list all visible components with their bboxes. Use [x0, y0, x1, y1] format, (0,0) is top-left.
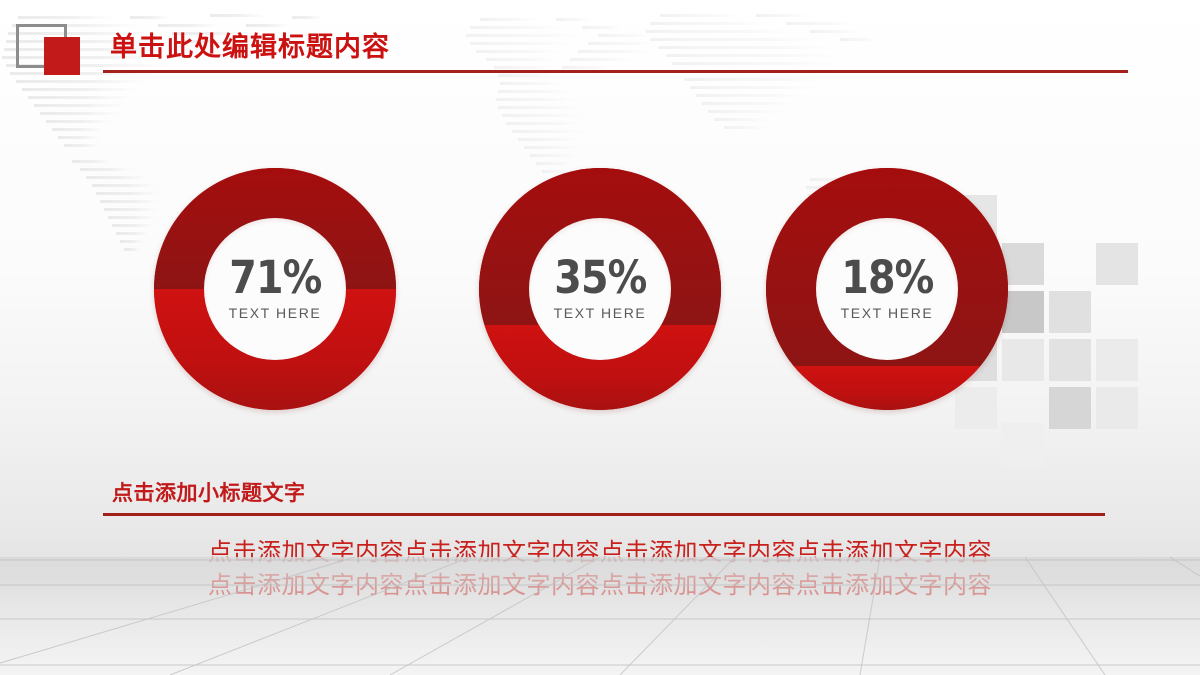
donut-center-3: 18% TEXT HERE — [816, 218, 958, 360]
donut-chart-1[interactable]: 71% TEXT HERE — [154, 168, 396, 410]
donut-chart-3[interactable]: 18% TEXT HERE — [766, 168, 1008, 410]
body-copy-line-1: 点击添加文字内容点击添加文字内容点击添加文字内容点击添加文字内容 — [0, 537, 1200, 570]
donut-value-3: 18% — [841, 257, 933, 300]
donut-caption-1: TEXT HERE — [229, 305, 322, 321]
donut-center-2: 35% TEXT HERE — [529, 218, 671, 360]
section-subtitle: 点击添加小标题文字 — [112, 483, 306, 504]
donut-value-1: 71% — [229, 257, 321, 300]
donut-value-2: 35% — [554, 257, 646, 300]
header-divider — [103, 70, 1128, 73]
logo-icon — [16, 24, 84, 74]
body-copy: 点击添加文字内容点击添加文字内容点击添加文字内容点击添加文字内容 点击添加文字内… — [0, 537, 1200, 603]
subtitle-divider — [103, 513, 1105, 516]
page-title: 单击此处编辑标题内容 — [110, 34, 390, 61]
slide-header: 单击此处编辑标题内容 — [0, 0, 1200, 100]
logo-filled-square-icon — [44, 37, 80, 75]
donut-chart-group: 71% TEXT HERE 35% TEXT HERE 18% TEXT HER… — [0, 168, 1200, 414]
donut-center-1: 71% TEXT HERE — [204, 218, 346, 360]
donut-chart-2[interactable]: 35% TEXT HERE — [479, 168, 721, 410]
donut-caption-2: TEXT HERE — [554, 305, 647, 321]
slide-canvas: 单击此处编辑标题内容 71% TEXT HERE 35% TEXT HERE — [0, 0, 1200, 675]
body-copy-line-2: 点击添加文字内容点击添加文字内容点击添加文字内容点击添加文字内容 — [0, 570, 1200, 603]
donut-ring-light-band-3 — [766, 366, 1008, 410]
donut-caption-3: TEXT HERE — [841, 305, 934, 321]
